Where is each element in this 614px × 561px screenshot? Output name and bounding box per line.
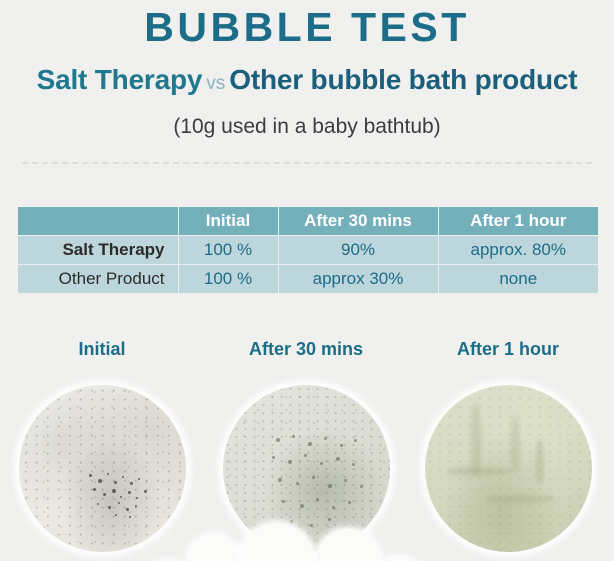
subtitle-right-product: Other bubble bath product	[229, 64, 577, 95]
photo-label-after-30-mins: After 30 mins	[204, 340, 408, 358]
photo-column-initial: Initial	[0, 340, 204, 552]
table-row: Other Product 100 % approx 30% none	[18, 265, 598, 294]
photo-column-after-30-mins: After 30 mins	[204, 340, 408, 552]
table-header-row: Initial After 30 mins After 1 hour	[18, 207, 598, 236]
page-title: BUBBLE TEST	[0, 7, 614, 48]
photo-label-after-1-hour: After 1 hour	[406, 340, 610, 358]
photo-label-initial: Initial	[0, 340, 204, 358]
table-header-corner	[18, 207, 178, 236]
cell-salt-therapy-initial: 100 %	[178, 236, 278, 265]
photo-column-after-1-hour: After 1 hour	[406, 340, 610, 552]
row-label-other-product: Other Product	[18, 265, 178, 294]
table-header-after-1-hour: After 1 hour	[438, 207, 598, 236]
bubble-test-infographic: BUBBLE TEST Salt TherapyvsOther bubble b…	[0, 0, 614, 561]
photo-initial	[19, 385, 186, 552]
table-header-initial: Initial	[178, 207, 278, 236]
subtitle-left-product: Salt Therapy	[37, 64, 203, 95]
table-header-after-30-mins: After 30 mins	[278, 207, 438, 236]
subtitle: Salt TherapyvsOther bubble bath product	[0, 66, 614, 94]
section-divider	[22, 162, 592, 164]
photo-after-30-mins	[223, 385, 390, 552]
cell-other-product-initial: 100 %	[178, 265, 278, 294]
cell-other-product-after-30-mins: approx 30%	[278, 265, 438, 294]
row-label-salt-therapy: Salt Therapy	[18, 236, 178, 265]
dosage-note: (10g used in a baby bathtub)	[0, 116, 614, 137]
comparison-table: Initial After 30 mins After 1 hour Salt …	[18, 207, 598, 293]
cell-other-product-after-1-hour: none	[438, 265, 598, 294]
photo-after-1-hour	[425, 385, 592, 552]
bubble-photo-after-30-mins	[223, 385, 390, 552]
table-row: Salt Therapy 100 % 90% approx. 80%	[18, 236, 598, 265]
bubble-photo-initial	[19, 385, 186, 552]
cell-salt-therapy-after-1-hour: approx. 80%	[438, 236, 598, 265]
cell-salt-therapy-after-30-mins: 90%	[278, 236, 438, 265]
subtitle-vs-separator: vs	[202, 73, 229, 94]
photo-comparison-strip: Initial	[0, 340, 614, 561]
bubble-photo-after-1-hour	[425, 385, 592, 552]
